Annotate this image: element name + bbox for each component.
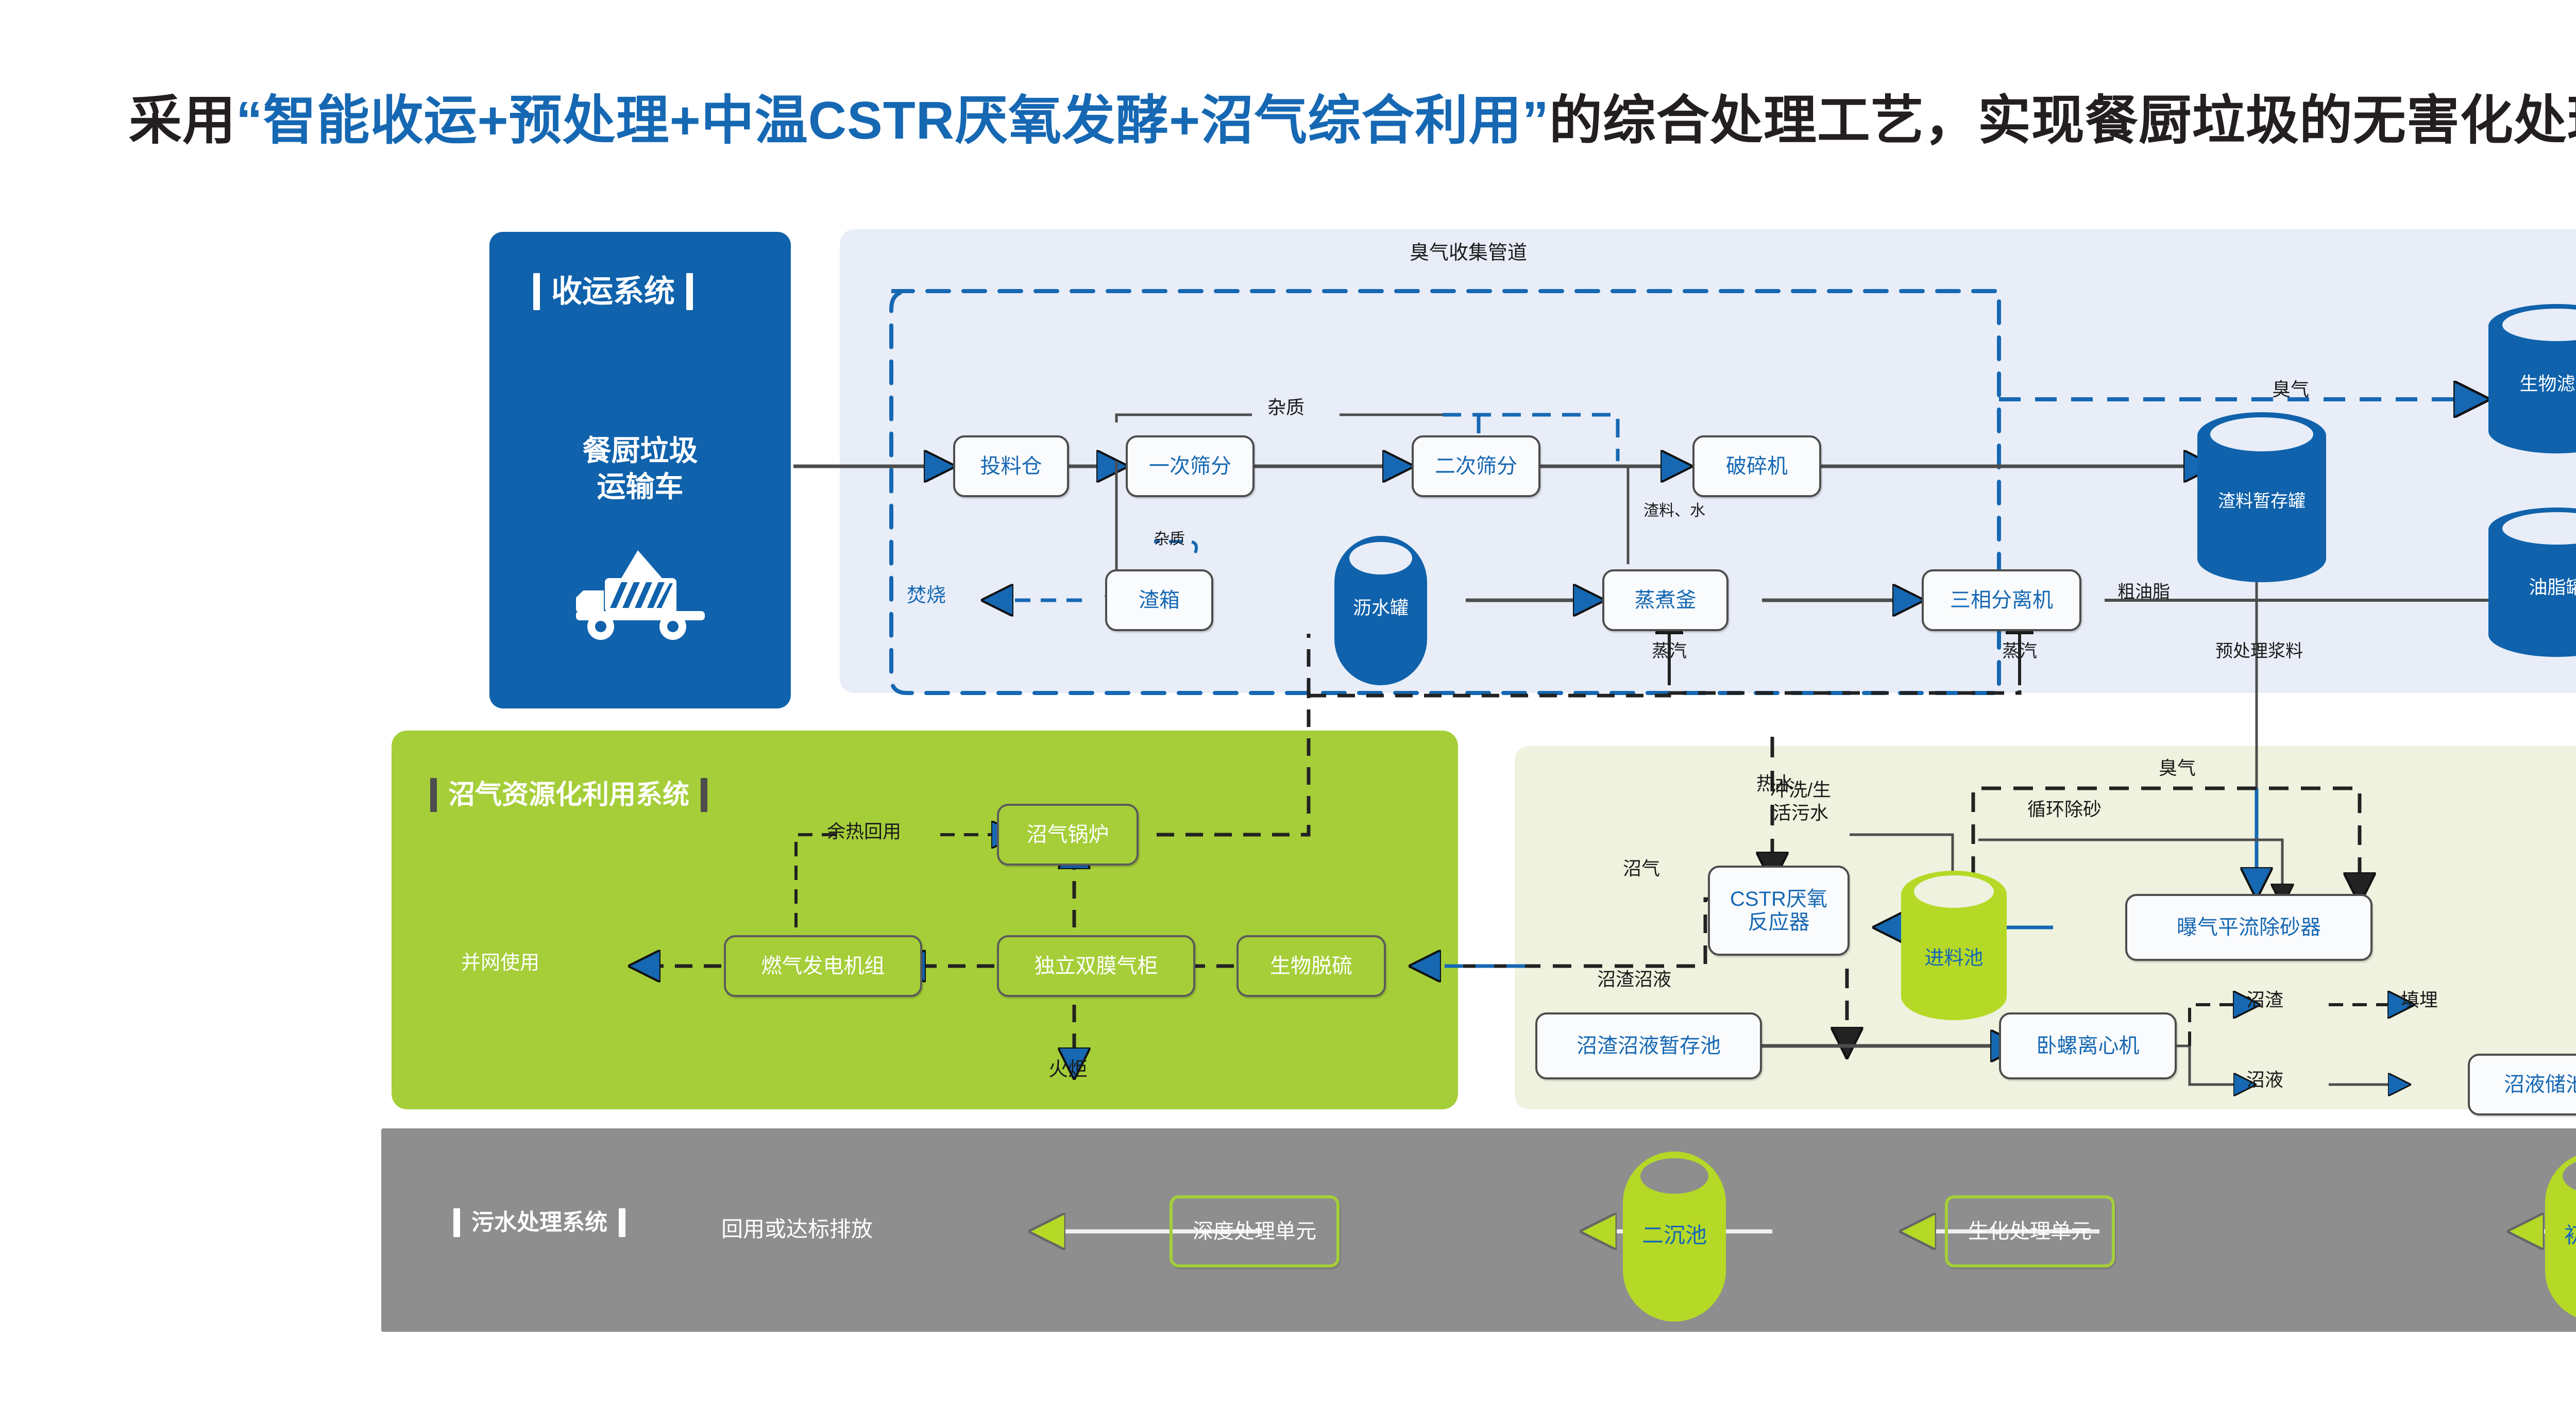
- node-residue-box-label: 渣箱: [1139, 589, 1180, 612]
- node-cooker[interactable]: 蒸煮釜: [1602, 569, 1728, 631]
- node-bio-desulfurization-label: 生物脱硫: [1270, 955, 1352, 978]
- label-reuse-or-discharge: 回用或达标排放: [721, 1217, 873, 1242]
- label-flush-sewage: 冲洗/生 活污水: [1741, 778, 1860, 824]
- cylinder-drain-tank-label: 沥水罐: [1334, 598, 1427, 618]
- node-decanter-centrifuge[interactable]: 卧螺离心机: [1999, 1012, 2177, 1079]
- cylinder-drain-tank[interactable]: 沥水罐: [1334, 536, 1427, 685]
- collection-subject-line2: 运输车: [489, 469, 791, 505]
- cylinder-biofilter-label: 生物滤池: [2488, 374, 2576, 394]
- node-three-phase-separator[interactable]: 三相分离机: [1922, 569, 2081, 631]
- node-biogas-boiler[interactable]: 沼气锅炉: [997, 804, 1139, 866]
- node-biogas-boiler-label: 沼气锅炉: [1027, 823, 1109, 847]
- cylinder-rim: [1349, 542, 1412, 575]
- label-impurity-mid: 杂质: [1154, 531, 1185, 549]
- section-header-wastewater-label: 污水处理系统: [471, 1211, 607, 1234]
- header-bar-left: [453, 1208, 460, 1237]
- label-flare: 火炬: [1048, 1059, 1088, 1081]
- node-liquid-storage-pool[interactable]: 沼液储池: [2468, 1054, 2576, 1115]
- label-impurity-top: 杂质: [1267, 397, 1304, 418]
- cylinder-biofilter[interactable]: 生物滤池: [2488, 304, 2576, 453]
- label-flush-sewage-line2: 活污水: [1741, 801, 1860, 824]
- node-feed-bin-label: 投料仓: [980, 455, 1042, 478]
- header-bar-left: [533, 273, 540, 310]
- header-bar-right: [686, 273, 693, 310]
- node-crusher[interactable]: 破碎机: [1692, 435, 1821, 497]
- cylinder-rim: [2210, 417, 2313, 451]
- label-steam-cooker: 蒸汽: [1618, 641, 1721, 662]
- node-biochemical-treatment-unit[interactable]: 生化处理单元: [1945, 1195, 2115, 1267]
- title-prefix: 采用: [129, 91, 236, 150]
- cylinder-second-clarifier-label: 二沉池: [1623, 1224, 1726, 1247]
- node-cstr-reactor-line2: 反应器: [1748, 911, 1810, 934]
- node-gas-holder[interactable]: 独立双膜气柜: [997, 935, 1195, 997]
- title-highlight: “智能收运+预处理+中温CSTR厌氧发酵+沼气综合利用”: [236, 91, 1549, 150]
- cylinder-feed-pool-label: 进料池: [1901, 948, 2007, 970]
- node-liquid-storage-pool-label: 沼液储池: [2504, 1073, 2576, 1096]
- cylinder-feed-pool[interactable]: 进料池: [1901, 871, 2007, 1020]
- label-residue: 沼渣: [2246, 989, 2283, 1010]
- label-digestate: 沼渣沼液: [1597, 969, 1671, 990]
- node-three-phase-separator-label: 三相分离机: [1950, 589, 2053, 612]
- node-screen2-label: 二次筛分: [1435, 455, 1517, 478]
- label-crude-oil: 粗油脂: [2117, 582, 2170, 602]
- cylinder-slag-tank[interactable]: 渣料暂存罐: [2197, 412, 2326, 582]
- cylinder-rim: [1914, 875, 1994, 908]
- label-waste-heat-reuse: 余热回用: [827, 821, 901, 842]
- node-digestate-pool[interactable]: 沼渣沼液暂存池: [1535, 1012, 1762, 1079]
- cylinder-primary-clarifier[interactable]: 初沉池: [2545, 1152, 2576, 1322]
- node-decanter-centrifuge-label: 卧螺离心机: [2037, 1035, 2140, 1058]
- node-advanced-treatment-unit-label: 深度处理单元: [1193, 1220, 1316, 1243]
- node-bio-desulfurization[interactable]: 生物脱硫: [1236, 935, 1386, 997]
- label-pre-slurry: 预处理浆料: [2151, 641, 2367, 662]
- section-header-biogas: 沼气资源化利用系统: [430, 778, 707, 812]
- label-steam-separator: 蒸汽: [1968, 641, 2071, 662]
- node-crusher-label: 破碎机: [1726, 455, 1788, 478]
- label-incinerate: 焚烧: [907, 585, 946, 607]
- label-biogas: 沼气: [1623, 858, 1660, 879]
- cylinder-oil-tank-label: 油脂罐: [2488, 577, 2576, 598]
- label-grid-use: 并网使用: [461, 952, 539, 975]
- node-digestate-pool-label: 沼渣沼液暂存池: [1577, 1035, 1721, 1058]
- header-bar-right: [701, 778, 707, 812]
- node-gas-holder-label: 独立双膜气柜: [1035, 955, 1158, 978]
- node-aerated-grit-remover[interactable]: 曝气平流除砂器: [2125, 894, 2372, 961]
- node-biochemical-treatment-unit-label: 生化处理单元: [1968, 1220, 2092, 1243]
- page-title: 采用“智能收运+预处理+中温CSTR厌氧发酵+沼气综合利用”的综合处理工艺，实现…: [129, 77, 2576, 154]
- node-screen1[interactable]: 一次筛分: [1126, 435, 1255, 497]
- section-header-biogas-label: 沼气资源化利用系统: [448, 782, 689, 808]
- node-gas-genset-label: 燃气发电机组: [761, 955, 885, 978]
- node-screen1-label: 一次筛分: [1149, 455, 1231, 478]
- cylinder-rim: [1640, 1158, 1708, 1194]
- label-landfill: 填埋: [2401, 989, 2438, 1010]
- title-suffix: 的综合处理工艺，实现餐厨垃圾的无害化处理及资源化利用。: [1549, 91, 2576, 150]
- node-screen2[interactable]: 二次筛分: [1412, 435, 1540, 497]
- collection-subject: 餐厨垃圾 运输车: [489, 433, 791, 505]
- label-odor-pre: 臭气: [2272, 379, 2309, 400]
- section-header-wastewater: 污水处理系统: [453, 1208, 625, 1237]
- cylinder-primary-clarifier-label: 初沉池: [2545, 1224, 2576, 1247]
- node-advanced-treatment-unit[interactable]: 深度处理单元: [1170, 1195, 1340, 1267]
- section-header-collection: 收运系统: [533, 273, 693, 310]
- cylinder-oil-tank[interactable]: 油脂罐: [2488, 508, 2576, 657]
- node-cstr-reactor-line1: CSTR厌氧: [1730, 888, 1827, 911]
- label-slag-water: 渣料、水: [1643, 502, 1705, 520]
- node-aerated-grit-remover-label: 曝气平流除砂器: [2177, 916, 2321, 939]
- header-bar-right: [619, 1208, 625, 1237]
- label-recycle-grit: 循环除砂: [2027, 799, 2102, 820]
- label-odor-anaerobic: 臭气: [2159, 757, 2196, 779]
- node-cooker-label: 蒸煮釜: [1635, 589, 1697, 612]
- collection-subject-line1: 餐厨垃圾: [489, 433, 791, 469]
- dump-truck-icon: [572, 546, 711, 641]
- label-odor-duct: 臭气收集管道: [1340, 242, 1597, 265]
- wastewater-panel: [381, 1128, 2576, 1332]
- header-bar-left: [430, 778, 437, 812]
- node-residue-box[interactable]: 渣箱: [1105, 569, 1213, 631]
- node-feed-bin[interactable]: 投料仓: [953, 435, 1069, 497]
- node-cstr-reactor[interactable]: CSTR厌氧 反应器: [1708, 866, 1850, 956]
- node-gas-genset[interactable]: 燃气发电机组: [724, 935, 922, 997]
- label-liquid: 沼液: [2246, 1069, 2283, 1090]
- label-flush-sewage-line1: 冲洗/生: [1741, 778, 1860, 801]
- section-header-collection-label: 收运系统: [551, 276, 675, 307]
- cylinder-slag-tank-label: 渣料暂存罐: [2197, 492, 2326, 511]
- cylinder-second-clarifier[interactable]: 二沉池: [1623, 1152, 1726, 1322]
